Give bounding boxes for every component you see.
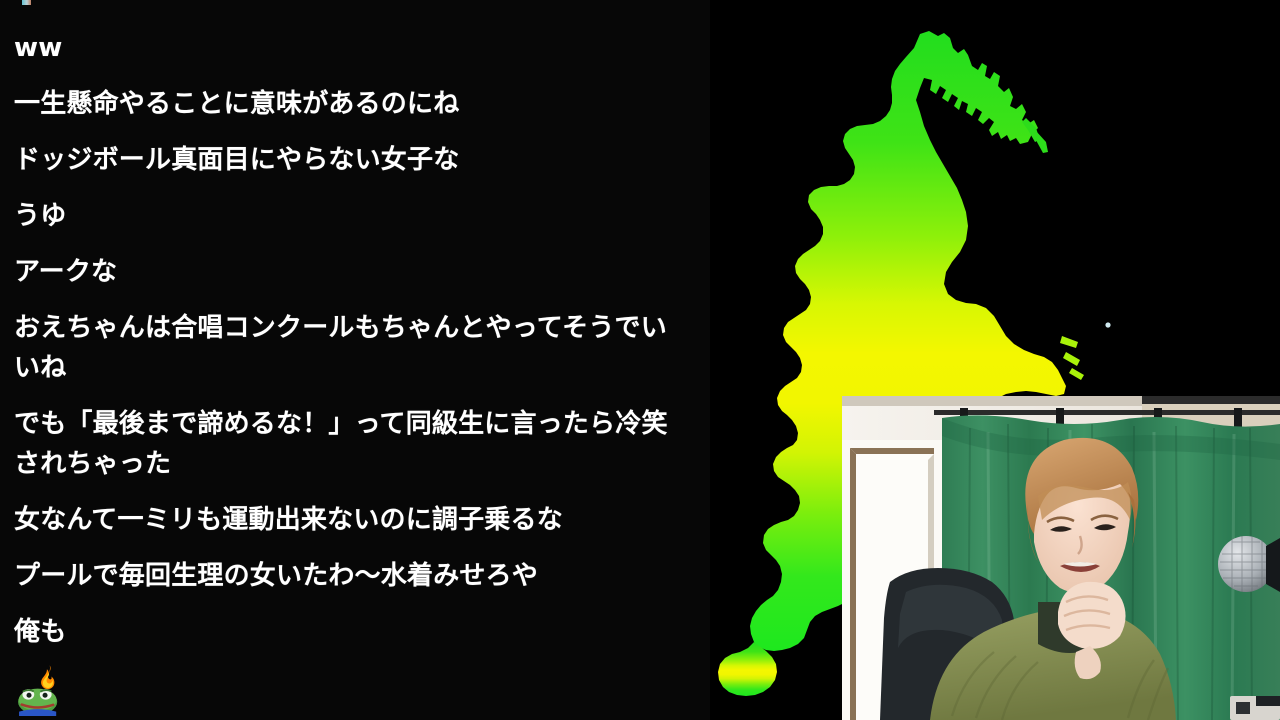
pepe-flame-emote [14,662,68,716]
chat-message: プールで毎回生理の女いたわ〜水着みせろや [0,548,710,604]
chat-message: うゆ [0,188,710,244]
chat-message: ドッジボール真面目にやらない女子な [0,132,710,188]
streamer-webcam-overlay[interactable] [842,396,1280,720]
microphone [1218,536,1280,592]
live-chat-panel[interactable]: ww 一生懸命やることに意味があるのにね ドッジボール真面目にやらない女子な う… [0,0,710,720]
chat-message: 女なんて一ミリも運動出来ないのに調子乗るな [0,492,710,548]
chat-message: でも「最後まで諦めるな！」って同級生に言ったら冷笑されちゃった [0,396,710,492]
stream-canvas: ww 一生懸命やることに意味があるのにね ドッジボール真面目にやらない女子な う… [0,0,1280,720]
chat-message: アークな [0,244,710,300]
chat-message: 俺も [0,604,710,660]
chat-message: ww [0,20,710,76]
clipped-message-fragment [22,0,31,5]
chat-message-list[interactable]: ww 一生懸命やることに意味があるのにね ドッジボール真面目にやらない女子な う… [0,16,710,720]
webcam-video-feed [842,396,1280,720]
chat-message: おえちゃんは合唱コンクールもちゃんとやってそうでいいね [0,300,710,396]
chat-message-emote [0,660,710,716]
chat-message: 一生懸命やることに意味があるのにね [0,76,710,132]
